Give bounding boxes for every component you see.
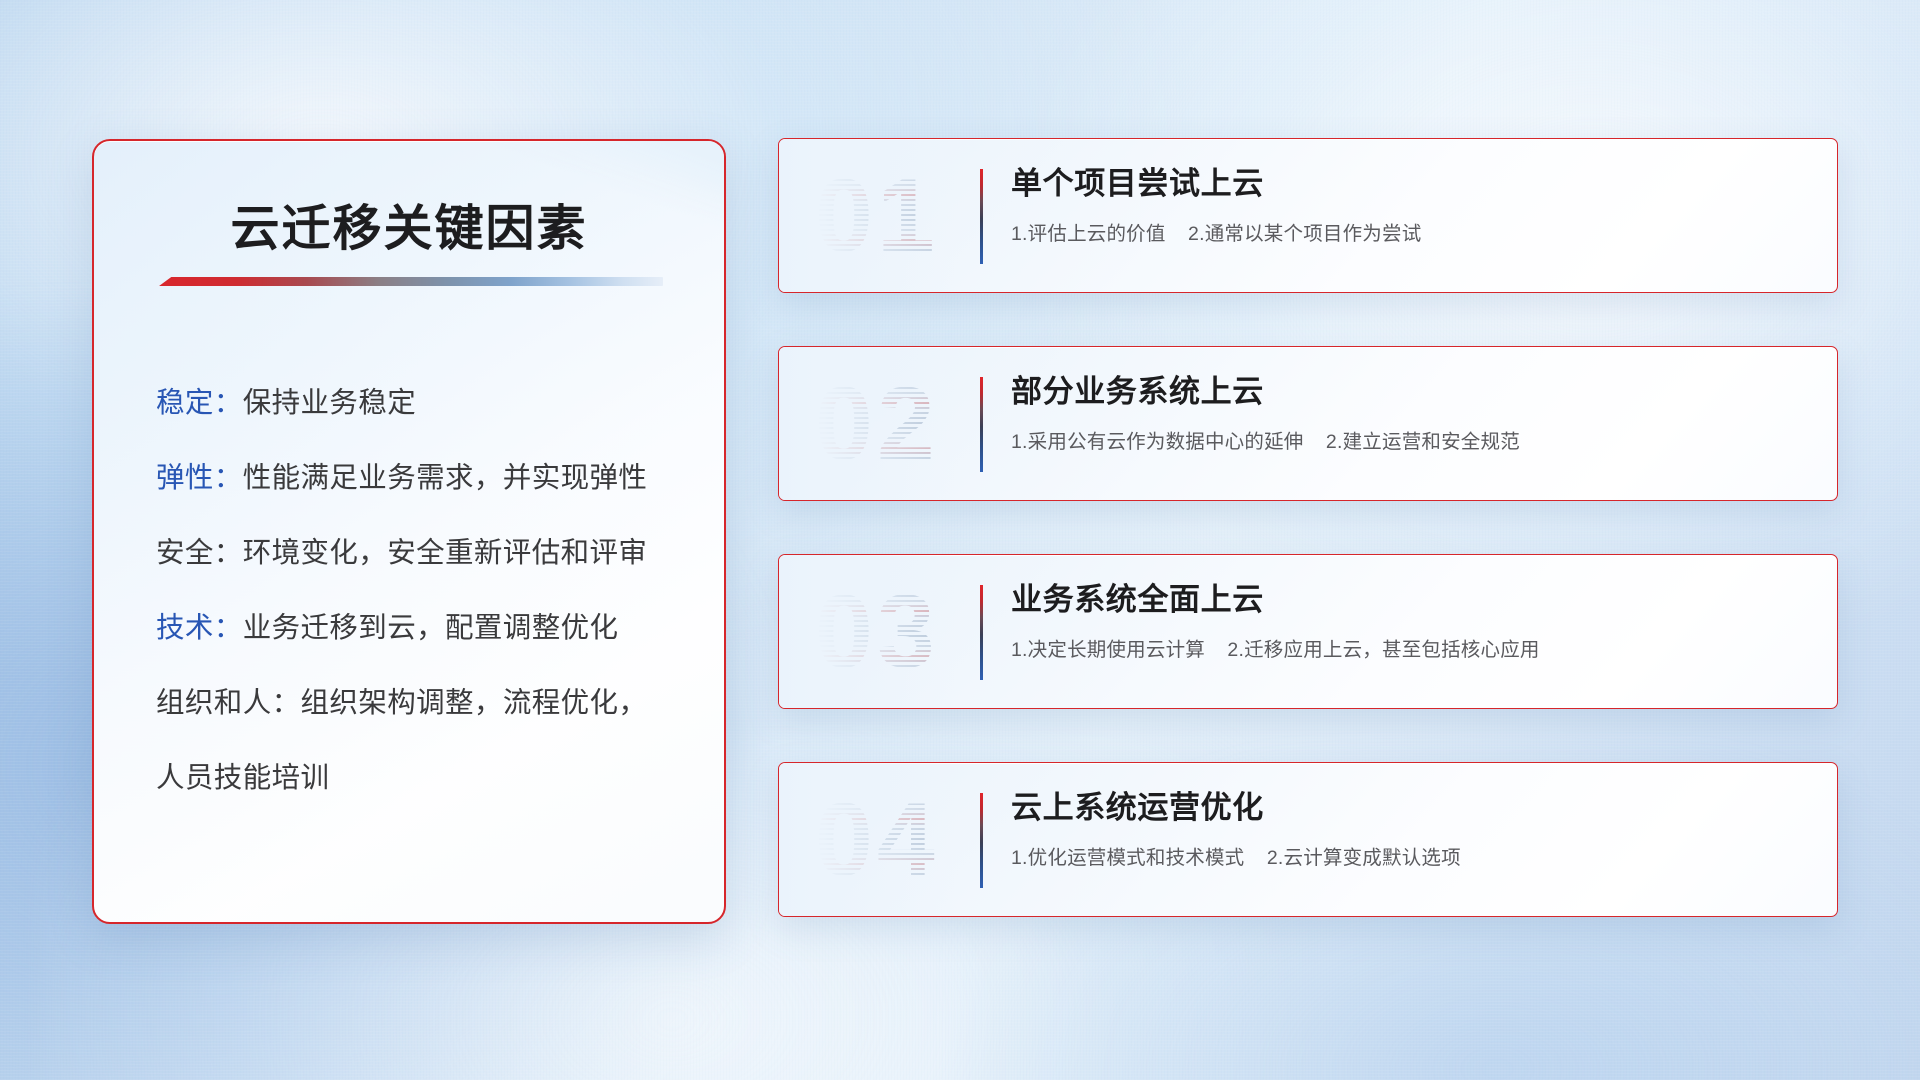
card-subtitle: 1.决定长期使用云计算 2.迁移应用上云，甚至包括核心应用 bbox=[1011, 633, 1813, 662]
key-factor-item: 安全：环境变化，安全重新评估和评审 bbox=[156, 513, 684, 588]
card-accent-divider bbox=[980, 793, 983, 888]
key-factor-text: 保持业务稳定 bbox=[243, 380, 416, 421]
card-body: 部分业务系统上云1.采用公有云作为数据中心的延伸 2.建立运营和安全规范 bbox=[1011, 373, 1813, 454]
stage-number-watermark: 04 bbox=[815, 788, 939, 892]
key-factor-item: 弹性：性能满足业务需求，并实现弹性 bbox=[156, 438, 684, 513]
card-title: 业务系统全面上云 bbox=[1011, 581, 1813, 619]
card-title: 单个项目尝试上云 bbox=[1011, 165, 1813, 203]
card-accent-divider bbox=[980, 377, 983, 472]
stage-card[interactable]: 0303业务系统全面上云1.决定长期使用云计算 2.迁移应用上云，甚至包括核心应… bbox=[778, 554, 1838, 709]
card-subtitle: 1.优化运营模式和技术模式 2.云计算变成默认选项 bbox=[1011, 841, 1813, 870]
card-title: 部分业务系统上云 bbox=[1011, 373, 1813, 411]
key-factor-label: 技术： bbox=[156, 605, 243, 646]
card-subtitle: 1.采用公有云作为数据中心的延伸 2.建立运营和安全规范 bbox=[1011, 425, 1813, 454]
key-factors-list: 稳定：保持业务稳定弹性：性能满足业务需求，并实现弹性安全：环境变化，安全重新评估… bbox=[156, 363, 684, 813]
stage-number-watermark: 02 bbox=[815, 372, 939, 476]
card-body: 业务系统全面上云1.决定长期使用云计算 2.迁移应用上云，甚至包括核心应用 bbox=[1011, 581, 1813, 662]
key-factor-item: 组织和人：组织架构调整，流程优化， bbox=[156, 663, 684, 738]
stage-number-watermark: 01 bbox=[815, 164, 939, 268]
card-title: 云上系统运营优化 bbox=[1011, 789, 1813, 827]
card-subtitle: 1.评估上云的价值 2.通常以某个项目作为尝试 bbox=[1011, 217, 1813, 246]
title-accent-rule bbox=[155, 277, 663, 286]
page-title: 云迁移关键因素 bbox=[94, 189, 724, 260]
key-factor-label: 安全： bbox=[156, 530, 243, 571]
key-factor-label: 弹性： bbox=[156, 455, 243, 496]
stage-number-watermark: 03 bbox=[815, 580, 939, 684]
card-accent-divider bbox=[980, 585, 983, 680]
stage-card[interactable]: 0404云上系统运营优化1.优化运营模式和技术模式 2.云计算变成默认选项 bbox=[778, 762, 1838, 917]
key-factor-text: 业务迁移到云，配置调整优化 bbox=[243, 605, 619, 646]
key-factor-text: 组织架构调整，流程优化， bbox=[301, 680, 648, 721]
card-body: 单个项目尝试上云1.评估上云的价值 2.通常以某个项目作为尝试 bbox=[1011, 165, 1813, 246]
key-factor-item: 人员技能培训 bbox=[156, 738, 684, 813]
key-factor-text: 人员技能培训 bbox=[156, 755, 329, 796]
slide-stage: 云迁移关键因素 稳定：保持业务稳定弹性：性能满足业务需求，并实现弹性安全：环境变… bbox=[0, 0, 1920, 1080]
key-factor-item: 技术：业务迁移到云，配置调整优化 bbox=[156, 588, 684, 663]
stage-card[interactable]: 0101单个项目尝试上云1.评估上云的价值 2.通常以某个项目作为尝试 bbox=[778, 138, 1838, 293]
cloud-migration-stages-list: 0101单个项目尝试上云1.评估上云的价值 2.通常以某个项目作为尝试0202部… bbox=[778, 138, 1838, 917]
stage-card[interactable]: 0202部分业务系统上云1.采用公有云作为数据中心的延伸 2.建立运营和安全规范 bbox=[778, 346, 1838, 501]
key-factor-label: 组织和人： bbox=[156, 680, 301, 721]
card-accent-divider bbox=[980, 169, 983, 264]
key-factor-text: 环境变化，安全重新评估和评审 bbox=[243, 530, 648, 571]
key-factor-item: 稳定：保持业务稳定 bbox=[156, 363, 684, 438]
key-factor-label: 稳定： bbox=[156, 380, 243, 421]
card-body: 云上系统运营优化1.优化运营模式和技术模式 2.云计算变成默认选项 bbox=[1011, 789, 1813, 870]
key-factor-text: 性能满足业务需求，并实现弹性 bbox=[243, 455, 648, 496]
key-factors-panel: 云迁移关键因素 稳定：保持业务稳定弹性：性能满足业务需求，并实现弹性安全：环境变… bbox=[92, 139, 726, 924]
